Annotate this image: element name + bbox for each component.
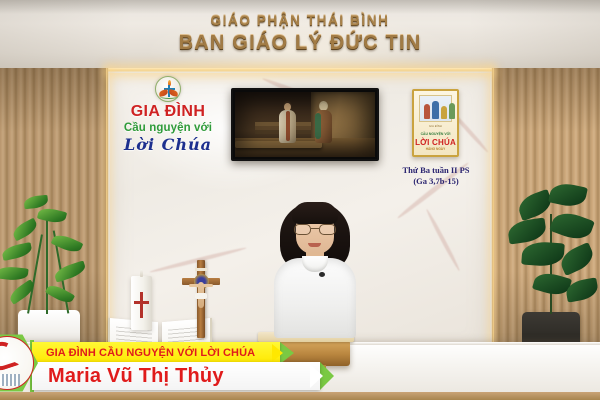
wall-sign: GIÁO PHẬN THÁI BÌNH BAN GIÁO LÝ ĐỨC TIN — [0, 14, 600, 53]
presenter-name-bar: Maria Vũ Thị Thủy — [32, 362, 320, 390]
ceiling-shadow — [0, 0, 600, 14]
glasses-icon — [294, 224, 336, 235]
reading-caption: Thứ Ba tuần II PS (Ga 3,7b-15) — [382, 165, 490, 186]
poster-footer: HẰNG NGÀY — [414, 147, 457, 151]
shirt-button — [319, 272, 325, 277]
caption-line1: Thứ Ba tuần II PS — [382, 165, 490, 176]
presenter — [272, 198, 358, 338]
led-glow-strip — [108, 68, 492, 73]
title-line-gia-dinh: GIA ĐÌNH — [112, 104, 224, 121]
poster-illustration — [419, 95, 452, 122]
program-title-block: GIA ĐÌNH Cầu nguyện với Lời Chúa — [112, 76, 224, 154]
presenter-fringe — [292, 202, 338, 224]
program-title-text: GIA ĐÌNH CẦU NGUYỆN VỚI LỜI CHÚA — [46, 342, 270, 364]
title-line-loi-chua: Lời Chúa — [112, 135, 224, 154]
channel-logo-icon[interactable] — [0, 332, 38, 394]
program-title-bar: GIA ĐÌNH CẦU NGUYỆN VỚI LỜI CHÚA — [32, 342, 280, 364]
wall-poster: GIA ĐÌNH CẦU NGUYỆN VỚI LỜI CHÚA HẰNG NG… — [412, 89, 459, 157]
plant-left — [0, 174, 110, 354]
screen-scene-image — [235, 92, 375, 157]
poster-line1: GIA ĐÌNH — [414, 125, 457, 128]
paschal-candle — [131, 276, 152, 330]
floor-strip — [0, 392, 600, 400]
poster-title: LỜI CHÚA — [414, 138, 457, 147]
plant-right — [488, 171, 600, 356]
presenter-mouth — [308, 243, 321, 247]
poster-line2: CẦU NGUYỆN VỚI — [414, 132, 457, 136]
wall-sign-line1: GIÁO PHẬN THÁI BÌNH — [0, 14, 600, 28]
display-screen — [231, 88, 379, 161]
title-line-cau-nguyen: Cầu nguyện với — [112, 122, 224, 134]
crucifix-icon — [182, 260, 220, 338]
video-frame: GIÁO PHẬN THÁI BÌNH BAN GIÁO LÝ ĐỨC TIN … — [0, 0, 600, 400]
diocese-emblem-icon — [155, 76, 181, 102]
wall-sign-line2: BAN GIÁO LÝ ĐỨC TIN — [0, 33, 600, 53]
caption-line2: (Ga 3,7b-15) — [382, 176, 490, 187]
presenter-name-text: Maria Vũ Thị Thủy — [48, 362, 308, 390]
